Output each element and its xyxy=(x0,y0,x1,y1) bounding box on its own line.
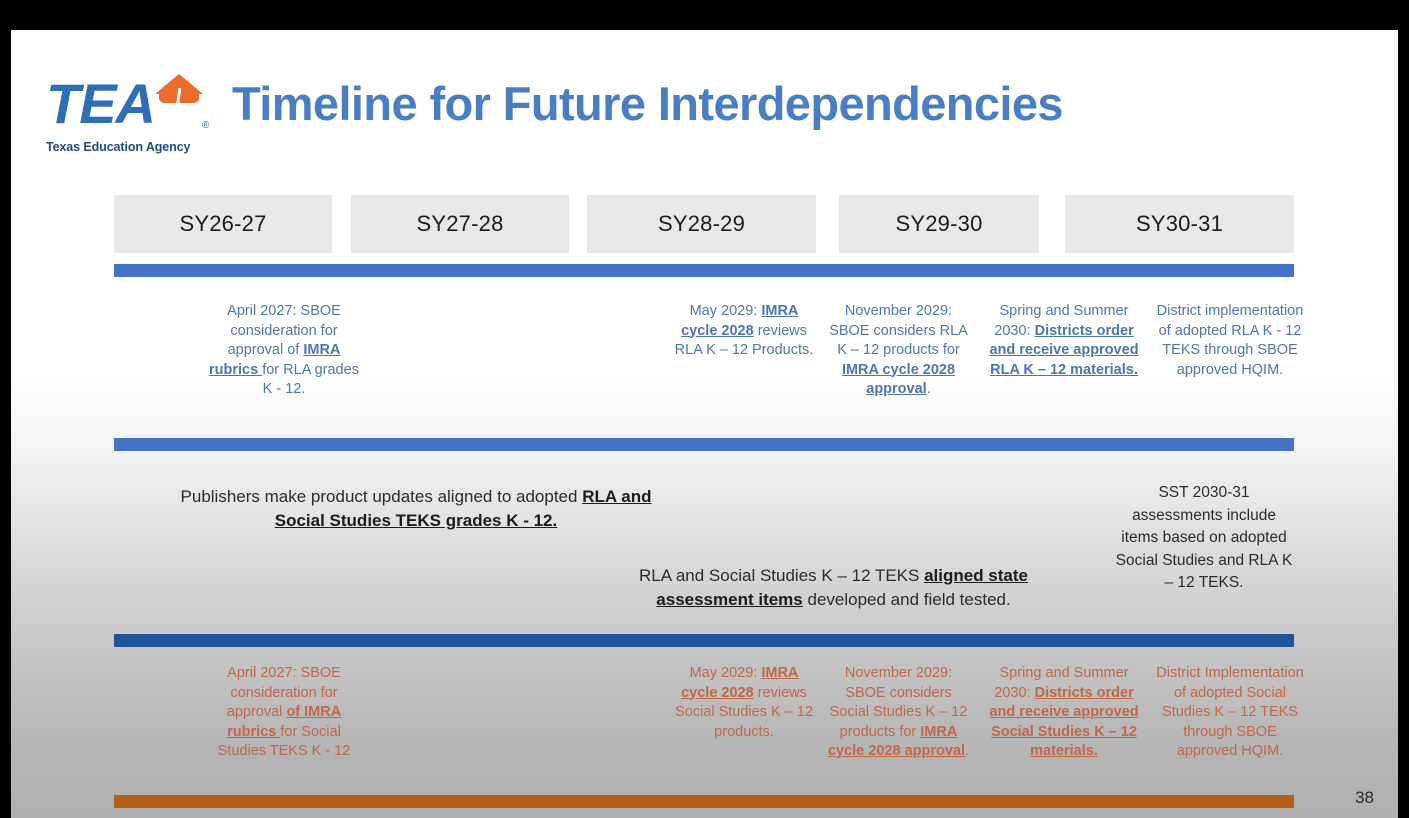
rla-milestone-5: District implementation of adopted RLA K… xyxy=(1154,302,1306,380)
rla-milestone-4: Spring and Summer 2030: Districts order … xyxy=(984,302,1144,380)
social-studies-timeline-row: April 2027: SBOE consideration for appro… xyxy=(114,664,1294,790)
plain-text: . xyxy=(927,381,931,397)
school-year-label: SY28-29 xyxy=(658,211,745,237)
school-year-label: SY29-30 xyxy=(895,211,982,237)
school-year-header-sy30-31: SY30-31 xyxy=(1065,195,1294,253)
school-year-label: SY26-27 xyxy=(179,211,266,237)
tea-logo: TEA ® Texas Education Agency xyxy=(42,58,207,168)
plain-text: . xyxy=(965,743,969,759)
school-year-header-row: SY26-27SY27-28SY28-29SY29-30SY30-31 xyxy=(114,195,1294,253)
plain-text: RLA and Social Studies K – 12 TEKS xyxy=(639,566,924,585)
registered-mark-icon: ® xyxy=(202,120,209,131)
page-title: Timeline for Future Interdependencies xyxy=(232,76,1063,131)
plain-text: November 2029: SBOE considers RLA K – 12… xyxy=(829,303,968,358)
social-studies-milestone-4: Spring and Summer 2030: Districts order … xyxy=(984,664,1144,762)
timeline-rule-top xyxy=(114,264,1294,277)
plain-text: May 2029: xyxy=(690,665,762,681)
plain-text: District implementation of adopted RLA K… xyxy=(1157,303,1304,378)
rla-milestone-2: May 2029: IMRA cycle 2028 reviews RLA K … xyxy=(674,302,814,361)
social-studies-milestone-1: April 2027: SBOE consideration for appro… xyxy=(204,664,364,762)
slide-page-number: 38 xyxy=(1355,788,1374,808)
narrative-sst-assessments: SST 2030-31 assessments include items ba… xyxy=(1114,482,1294,595)
social-studies-milestone-3: November 2029: SBOE considers Social Stu… xyxy=(826,664,971,762)
tea-wordmark-text: TEA xyxy=(46,72,155,136)
school-year-header-sy26-27: SY26-27 xyxy=(114,195,332,253)
school-year-header-sy27-28: SY27-28 xyxy=(351,195,569,253)
plain-text: District Implementation of adopted Socia… xyxy=(1156,665,1303,759)
rla-milestone-3: November 2029: SBOE considers RLA K – 12… xyxy=(826,302,971,400)
school-year-label: SY30-31 xyxy=(1136,211,1223,237)
rla-timeline-row: April 2027: SBOE consideration for appro… xyxy=(114,302,1294,430)
graduation-cap-icon xyxy=(155,72,203,102)
social-studies-milestone-2: May 2029: IMRA cycle 2028 reviews Social… xyxy=(674,664,814,742)
plain-text: developed and field tested. xyxy=(803,590,1011,609)
plain-text: for RLA grades K - 12. xyxy=(262,362,359,398)
school-year-header-sy28-29: SY28-29 xyxy=(587,195,816,253)
plain-text: Publishers make product updates aligned … xyxy=(181,487,583,506)
narrative-assessment-items: RLA and Social Studies K – 12 TEKS align… xyxy=(626,564,1041,612)
plain-text: May 2029: xyxy=(690,303,762,319)
presentation-slide: TEA ® Texas Education Agency Timeline fo… xyxy=(11,30,1398,818)
plain-text: SST 2030-31 assessments include items ba… xyxy=(1116,484,1293,591)
timeline-rule-bottom xyxy=(114,795,1294,808)
school-year-label: SY27-28 xyxy=(416,211,503,237)
tea-logo-subtitle: Texas Education Agency xyxy=(46,140,190,154)
emphasis-text: IMRA cycle 2028 approval xyxy=(842,362,955,398)
timeline-rule-middle xyxy=(114,438,1294,451)
social-studies-milestone-5: District Implementation of adopted Socia… xyxy=(1154,664,1306,762)
school-year-header-sy29-30: SY29-30 xyxy=(839,195,1039,253)
rla-milestone-1: April 2027: SBOE consideration for appro… xyxy=(204,302,364,400)
timeline-rule-lower xyxy=(114,634,1294,647)
narrative-publishers: Publishers make product updates aligned … xyxy=(161,485,671,533)
screenshot-viewport: TEA ® Texas Education Agency Timeline fo… xyxy=(0,0,1409,818)
